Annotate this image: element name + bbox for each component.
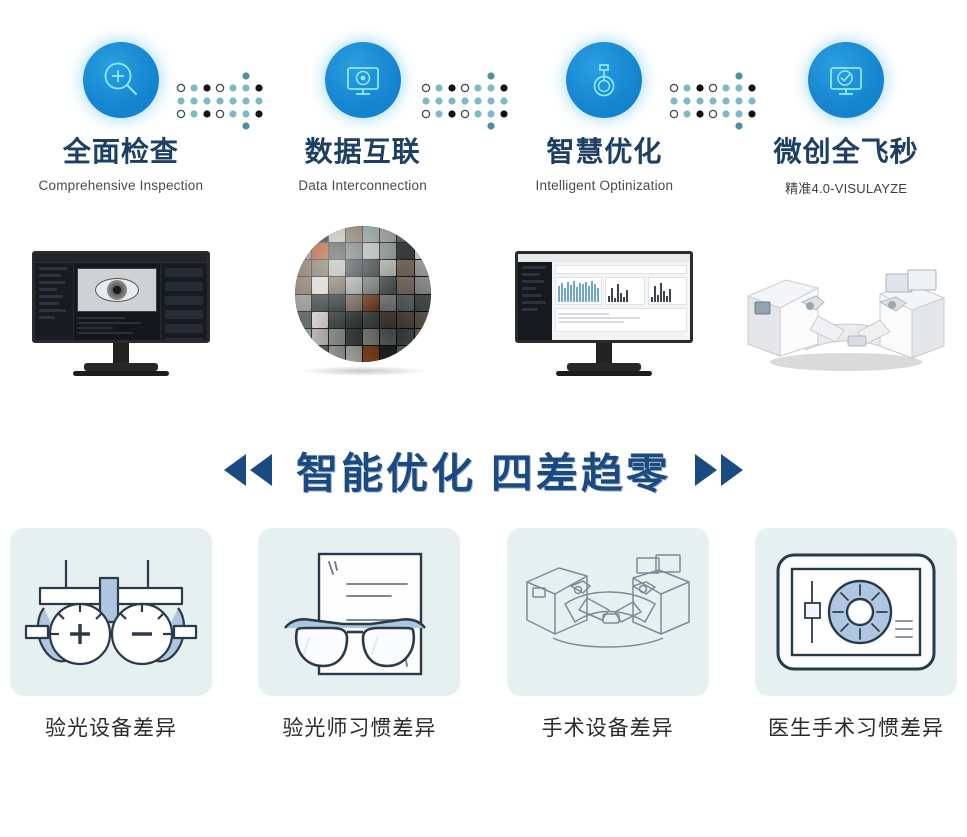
dotted-arrow-1 — [175, 72, 267, 130]
difference-label-1: 验光设备差异 — [10, 712, 212, 742]
media-cell-2 — [242, 226, 484, 376]
glasses-prescription-icon — [271, 542, 447, 682]
feature-title: 数据互联 — [305, 138, 421, 166]
feature-subtitle: Intelligent Optinization — [536, 178, 674, 193]
left-chevron-icon — [218, 450, 278, 490]
media-row — [0, 226, 967, 376]
difference-label-row: 验光设备差异 验光师习惯差异 手术设备差异 医生手术习惯差异 — [0, 712, 967, 742]
surgical-equipment-icon — [517, 546, 699, 678]
trial-frame-lenses-icon — [18, 542, 204, 682]
feature-subtitle: 精准4.0-VISULAYZE — [785, 178, 907, 197]
monitor-disc-icon — [325, 42, 401, 118]
feature-title: 全面检查 — [63, 138, 179, 166]
media-cell-4 — [725, 226, 967, 376]
media-cell-1 — [0, 226, 242, 376]
feature-item-4: 微创全飞秒 精准4.0-VISULAYZE — [725, 28, 967, 197]
feature-title: 智慧优化 — [546, 138, 662, 166]
feature-subtitle: Data Interconnection — [298, 178, 427, 193]
media-cell-3 — [484, 226, 726, 376]
difference-card-2 — [258, 528, 460, 696]
dotted-arrow-2 — [420, 72, 512, 130]
femtosecond-laser-suite — [740, 258, 952, 376]
magnifier-plus-icon — [83, 42, 159, 118]
optical-device-icon — [566, 42, 642, 118]
difference-label-2: 验光师习惯差异 — [258, 712, 460, 742]
difference-label-4: 医生手术习惯差异 — [755, 712, 957, 742]
poster-root: 全面检查 Comprehensive Inspection 数据互联 Data … — [0, 0, 967, 837]
feature-title: 微创全飞秒 — [774, 138, 919, 166]
feature-row: 全面检查 Comprehensive Inspection 数据互联 Data … — [0, 28, 967, 223]
difference-label-3: 手术设备差异 — [507, 712, 709, 742]
difference-card-row — [0, 528, 967, 698]
monitor-eye-diagnostic-software — [32, 251, 210, 376]
monitor-analytics-dashboard — [515, 251, 693, 376]
dotted-arrow-3 — [668, 72, 760, 130]
right-chevron-icon — [689, 450, 749, 490]
screen-cornea-map-icon — [768, 545, 944, 679]
feature-subtitle: Comprehensive Inspection — [39, 178, 204, 193]
banner: 智能优化 四差趋零 — [0, 425, 967, 515]
photo-tile-globe — [295, 226, 431, 376]
banner-title: 智能优化 四差趋零 — [296, 440, 671, 501]
difference-card-1 — [10, 528, 212, 696]
difference-card-4 — [755, 528, 957, 696]
monitor-check-icon — [808, 42, 884, 118]
difference-card-3 — [507, 528, 709, 696]
